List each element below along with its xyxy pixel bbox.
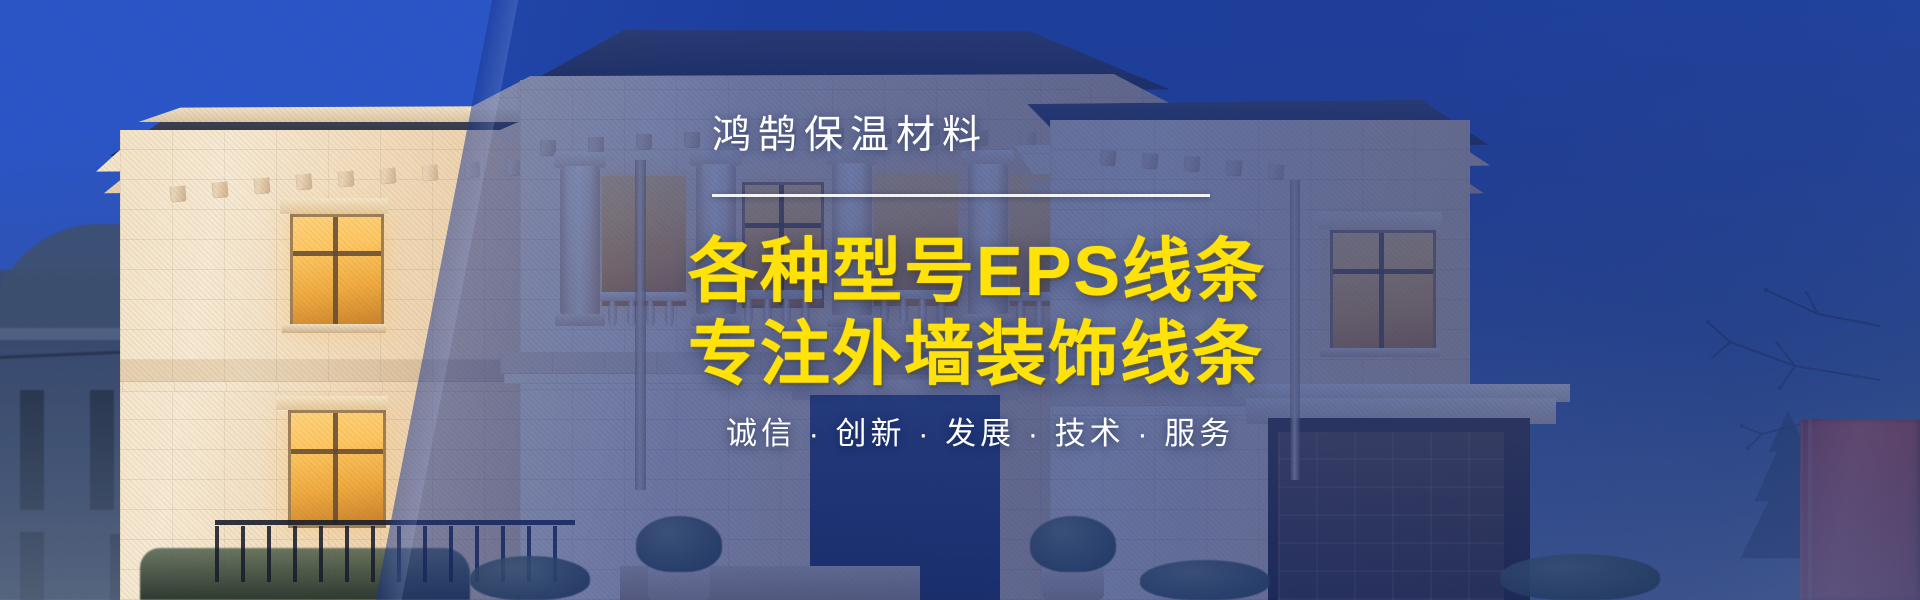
blue-overlay-panel — [364, 0, 1920, 600]
promo-banner: 鸿鹄保温材料 各种型号EPS线条 专注外墙装饰线条 诚信 · 创新 · 发展 ·… — [0, 0, 1920, 600]
